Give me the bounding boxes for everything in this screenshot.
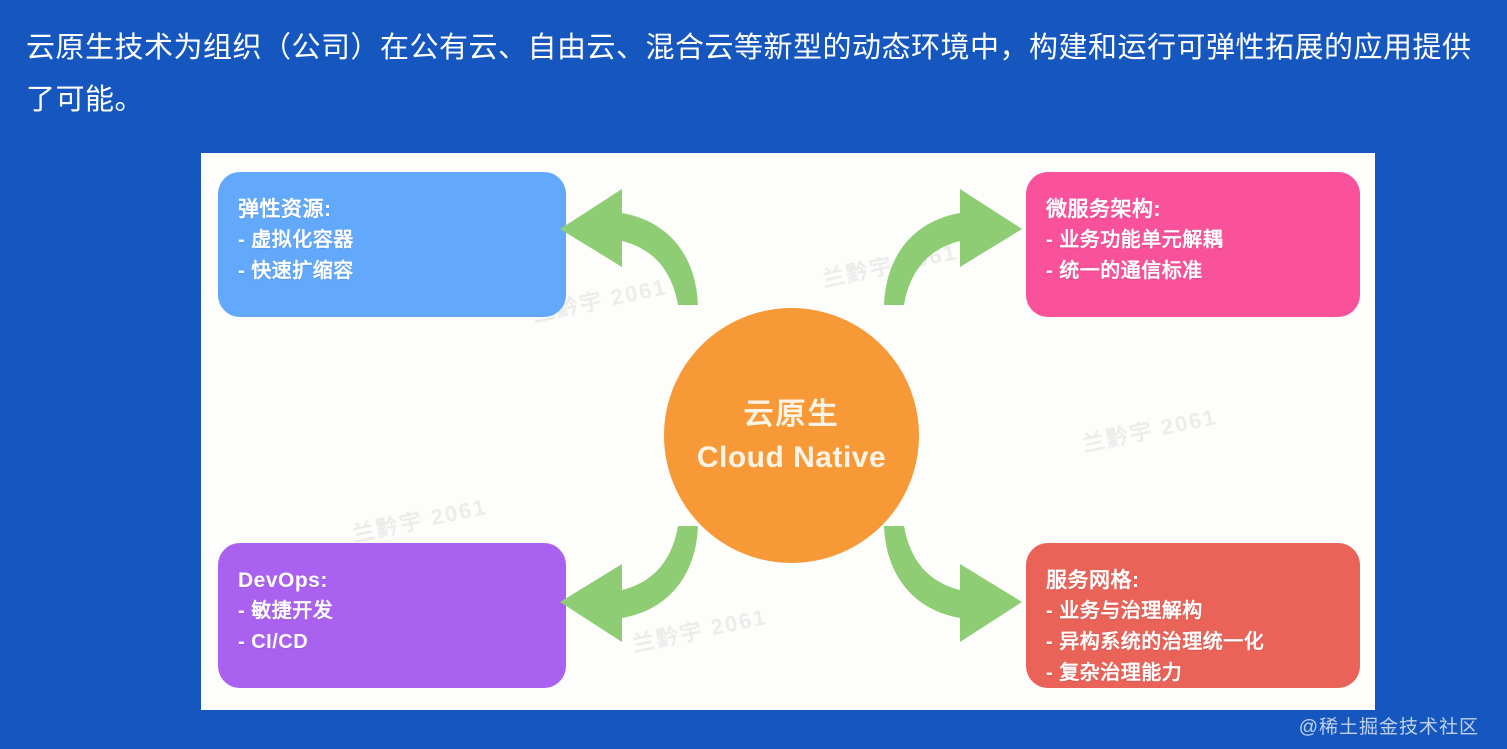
card-bullet: - 虚拟化容器 [238, 225, 546, 256]
slide-root: 云原生技术为组织（公司）在公有云、自由云、混合云等新型的动态环境中，构建和运行可… [0, 0, 1507, 749]
card-title: 弹性资源: [238, 194, 546, 225]
card-devops[interactable]: DevOps: - 敏捷开发 - CI/CD [218, 543, 566, 688]
curved-arrow-icon-to-microservices [881, 183, 1026, 308]
curved-arrow-icon-to-service-mesh [881, 523, 1026, 648]
curved-arrow-icon-to-devops [556, 523, 701, 648]
diagram-panel: 兰黔宇 2061 兰黔宇 2061 兰黔宇 2061 兰黔宇 2061 兰黔宇 … [201, 153, 1375, 710]
card-bullet: - 敏捷开发 [238, 596, 546, 627]
card-bullet: - 业务功能单元解耦 [1046, 225, 1340, 256]
watermark-text: 兰黔宇 2061 [349, 489, 490, 549]
card-bullet: - 业务与治理解构 [1046, 596, 1340, 627]
card-bullet: - 异构系统的治理统一化 [1046, 627, 1340, 658]
card-elastic-resources[interactable]: 弹性资源: - 虚拟化容器 - 快速扩缩容 [218, 172, 566, 317]
card-bullet: - CI/CD [238, 627, 546, 658]
page-title: 云原生技术为组织（公司）在公有云、自由云、混合云等新型的动态环境中，构建和运行可… [26, 22, 1478, 126]
center-title-en: Cloud Native [697, 437, 886, 479]
card-title: 微服务架构: [1046, 194, 1340, 225]
footer-credit: @稀土掘金技术社区 [1299, 712, 1479, 739]
card-microservices[interactable]: 微服务架构: - 业务功能单元解耦 - 统一的通信标准 [1026, 172, 1360, 317]
card-title: DevOps: [238, 565, 546, 596]
card-title: 服务网格: [1046, 565, 1340, 596]
watermark-text: 兰黔宇 2061 [1079, 399, 1220, 459]
card-service-mesh[interactable]: 服务网格: - 业务与治理解构 - 异构系统的治理统一化 - 复杂治理能力 [1026, 543, 1360, 688]
center-title-cn: 云原生 [744, 393, 840, 437]
card-bullet: - 复杂治理能力 [1046, 658, 1340, 689]
card-bullet: - 快速扩缩容 [238, 256, 546, 287]
curved-arrow-icon-to-elastic [556, 183, 701, 308]
card-bullet: - 统一的通信标准 [1046, 256, 1340, 287]
